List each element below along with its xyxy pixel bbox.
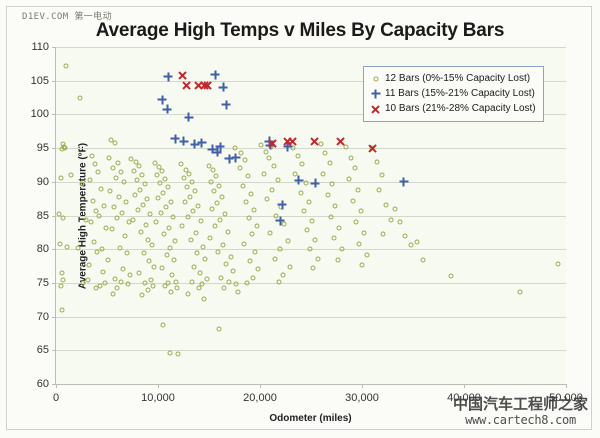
data-point-series-0	[355, 187, 360, 192]
data-point-series-0	[123, 233, 128, 238]
data-point-series-0	[89, 154, 94, 159]
data-point-series-0	[281, 272, 286, 277]
data-point-series-0	[145, 287, 150, 292]
data-point-series-0	[101, 204, 106, 209]
data-point-series-0	[212, 189, 217, 194]
data-point-series-0	[402, 233, 407, 238]
data-point-series-0	[319, 142, 324, 147]
data-point-series-1	[171, 134, 180, 143]
data-point-series-0	[164, 205, 169, 210]
data-point-series-0	[145, 237, 150, 242]
gridline-y	[56, 350, 566, 351]
data-point-series-0	[137, 187, 142, 192]
data-point-series-0	[117, 194, 122, 199]
data-point-series-0	[229, 255, 234, 260]
data-point-series-0	[377, 187, 382, 192]
data-point-series-0	[224, 262, 229, 267]
data-point-series-0	[180, 224, 185, 229]
y-tick-mark	[52, 317, 56, 318]
data-point-series-0	[92, 162, 97, 167]
y-tick-label: 90	[37, 176, 49, 188]
data-point-series-0	[60, 271, 65, 276]
data-point-series-0	[110, 226, 115, 231]
data-point-series-0	[139, 173, 144, 178]
data-point-series-0	[448, 274, 453, 279]
data-point-series-0	[248, 191, 253, 196]
chart-title: Average High Temps v Miles By Capacity B…	[0, 20, 600, 42]
data-point-series-0	[162, 232, 167, 237]
data-point-series-0	[136, 163, 141, 168]
legend-label: 10 Bars (21%-28% Capacity Lost)	[385, 103, 536, 114]
data-point-series-1	[283, 142, 292, 151]
data-point-series-0	[127, 220, 132, 225]
data-point-series-0	[298, 190, 303, 195]
legend-item-0[interactable]: 12 Bars (0%-15% Capacity Lost)	[369, 71, 536, 86]
legend-marker-circle-icon	[369, 72, 382, 85]
y-tick-label: 105	[31, 75, 49, 87]
data-point-series-0	[187, 194, 192, 199]
data-point-series-0	[135, 208, 140, 213]
data-point-series-0	[295, 154, 300, 159]
data-point-series-1	[265, 137, 274, 146]
data-point-series-1	[222, 100, 231, 109]
data-point-series-1	[219, 83, 228, 92]
legend-item-2[interactable]: 10 Bars (21%-28% Capacity Lost)	[369, 101, 536, 116]
data-point-series-1	[311, 179, 320, 188]
data-point-series-0	[241, 241, 246, 246]
data-point-series-0	[332, 236, 337, 241]
data-point-series-0	[124, 200, 129, 205]
data-point-series-0	[282, 221, 287, 226]
data-point-series-0	[98, 186, 103, 191]
data-point-series-0	[160, 169, 165, 174]
data-point-series-1	[211, 70, 220, 79]
data-point-series-0	[188, 237, 193, 242]
data-point-series-0	[112, 205, 117, 210]
data-point-series-0	[360, 263, 365, 268]
data-point-series-0	[213, 224, 218, 229]
data-point-series-0	[91, 240, 96, 245]
data-point-series-0	[518, 290, 523, 295]
data-point-series-0	[321, 171, 326, 176]
data-point-series-1	[294, 176, 303, 185]
data-point-series-0	[119, 170, 124, 175]
data-point-series-0	[214, 174, 219, 179]
data-point-series-0	[193, 231, 198, 236]
x-tick-mark	[362, 384, 363, 388]
data-point-series-0	[156, 195, 161, 200]
data-point-series-0	[353, 220, 358, 225]
gridline-y	[56, 216, 566, 217]
data-point-series-0	[183, 167, 188, 172]
x-tick-label: 30,000	[345, 392, 379, 404]
data-point-series-0	[166, 185, 171, 190]
data-point-series-0	[301, 209, 306, 214]
data-point-series-0	[408, 243, 413, 248]
data-point-series-0	[78, 95, 83, 100]
x-tick-mark	[566, 384, 567, 388]
data-point-series-0	[169, 200, 174, 205]
data-point-series-0	[237, 166, 242, 171]
data-point-series-0	[415, 240, 420, 245]
data-point-series-0	[116, 160, 121, 165]
data-point-series-0	[172, 257, 177, 262]
data-point-series-0	[197, 271, 202, 276]
data-point-series-0	[195, 204, 200, 209]
data-point-series-0	[132, 193, 137, 198]
data-point-series-1	[163, 105, 172, 114]
data-point-series-0	[328, 160, 333, 165]
data-point-series-0	[129, 156, 134, 161]
y-tick-mark	[52, 47, 56, 48]
data-point-series-2	[283, 137, 292, 146]
data-point-series-0	[190, 209, 195, 214]
data-point-series-0	[128, 272, 133, 277]
data-point-series-0	[161, 322, 166, 327]
data-point-series-0	[114, 175, 119, 180]
y-tick-mark	[52, 81, 56, 82]
data-point-series-0	[250, 275, 255, 280]
data-point-series-0	[555, 262, 560, 267]
data-point-series-0	[160, 266, 165, 271]
data-point-series-0	[336, 225, 341, 230]
data-point-series-0	[273, 256, 278, 261]
data-point-series-0	[380, 173, 385, 178]
data-point-series-0	[130, 217, 135, 222]
y-tick-label: 80	[37, 243, 49, 255]
data-point-series-0	[381, 232, 386, 237]
data-point-series-0	[235, 290, 240, 295]
data-point-series-0	[217, 326, 222, 331]
legend-marker-cross-icon	[369, 102, 382, 115]
data-point-series-0	[251, 208, 256, 213]
y-tick-label: 110	[31, 41, 49, 53]
data-point-series-0	[100, 270, 105, 275]
data-point-series-0	[106, 257, 111, 262]
data-point-series-0	[170, 272, 175, 277]
data-point-series-0	[64, 63, 69, 68]
chart-root: D1EV.COM 第一电动 Average High Temps v Miles…	[0, 0, 600, 438]
data-point-series-0	[219, 275, 224, 280]
legend-label: 11 Bars (15%-21% Capacity Lost)	[385, 88, 535, 99]
data-point-series-0	[245, 174, 250, 179]
data-point-series-0	[356, 241, 361, 246]
data-point-series-0	[131, 169, 136, 174]
data-point-series-0	[299, 162, 304, 167]
x-tick-label: 10,000	[141, 392, 175, 404]
legend-label: 12 Bars (0%-15% Capacity Lost)	[385, 73, 530, 84]
data-point-series-0	[287, 264, 292, 269]
data-point-series-1	[225, 154, 234, 163]
data-point-series-0	[93, 209, 98, 214]
data-point-series-0	[362, 231, 367, 236]
data-point-series-0	[270, 187, 275, 192]
data-point-series-0	[167, 225, 172, 230]
data-point-series-0	[138, 229, 143, 234]
data-point-series-0	[254, 224, 259, 229]
data-point-series-0	[196, 286, 201, 291]
data-point-series-1	[179, 137, 188, 146]
y-tick-mark	[52, 216, 56, 217]
data-point-series-0	[103, 225, 108, 230]
data-point-series-0	[191, 264, 196, 269]
data-point-series-0	[161, 190, 166, 195]
data-point-series-0	[88, 220, 93, 225]
gridline-y	[56, 182, 566, 183]
data-point-series-0	[109, 138, 114, 143]
data-point-series-2	[268, 138, 277, 147]
data-point-series-0	[58, 241, 63, 246]
data-point-series-0	[144, 197, 149, 202]
data-point-series-0	[350, 198, 355, 203]
data-point-series-0	[113, 140, 118, 145]
data-point-series-0	[125, 251, 130, 256]
data-point-series-0	[267, 155, 272, 160]
y-tick-label: 70	[37, 311, 49, 323]
data-point-series-0	[326, 193, 331, 198]
data-point-series-0	[165, 252, 170, 257]
y-tick-label: 75	[37, 277, 49, 289]
y-tick-mark	[52, 148, 56, 149]
data-point-series-1	[216, 142, 225, 151]
data-point-series-0	[182, 200, 187, 205]
y-tick-label: 100	[31, 108, 49, 120]
data-point-series-0	[335, 257, 340, 262]
gridline-y	[56, 148, 566, 149]
data-point-series-0	[95, 170, 100, 175]
data-point-series-0	[268, 231, 273, 236]
data-point-series-0	[255, 267, 260, 272]
data-point-series-0	[157, 164, 162, 169]
data-point-series-0	[279, 205, 284, 210]
y-tick-label: 85	[37, 210, 49, 222]
y-tick-mark	[52, 182, 56, 183]
data-point-series-0	[384, 202, 389, 207]
data-point-series-2	[178, 71, 187, 80]
data-point-series-0	[93, 286, 98, 291]
data-point-series-0	[60, 307, 65, 312]
y-tick-mark	[52, 114, 56, 115]
data-point-series-1	[158, 95, 167, 104]
data-point-series-1	[276, 216, 285, 225]
data-point-series-1	[197, 138, 206, 147]
data-point-series-0	[198, 218, 203, 223]
data-point-series-0	[154, 173, 159, 178]
data-point-series-0	[151, 264, 156, 269]
data-point-series-0	[220, 194, 225, 199]
data-point-series-0	[285, 239, 290, 244]
data-point-series-0	[397, 220, 402, 225]
data-point-series-2	[288, 137, 297, 146]
gridline-y	[56, 47, 566, 48]
data-point-series-0	[169, 290, 174, 295]
data-point-series-0	[249, 232, 254, 237]
data-point-series-0	[323, 151, 328, 156]
data-point-series-0	[304, 228, 309, 233]
data-point-series-2	[203, 81, 212, 90]
data-point-series-0	[185, 291, 190, 296]
data-point-series-0	[333, 204, 338, 209]
x-tick-label: 20,000	[243, 392, 277, 404]
data-point-series-0	[311, 266, 316, 271]
data-point-series-0	[184, 185, 189, 190]
data-point-series-0	[247, 259, 252, 264]
data-point-series-0	[192, 189, 197, 194]
data-point-series-0	[140, 202, 145, 207]
data-point-series-0	[264, 150, 269, 155]
gridline-y	[56, 249, 566, 250]
data-point-series-0	[421, 257, 426, 262]
x-tick-label: 0	[53, 392, 59, 404]
data-point-series-0	[152, 160, 157, 165]
data-point-series-0	[149, 243, 154, 248]
data-point-series-0	[217, 183, 222, 188]
data-point-series-0	[113, 276, 118, 281]
data-point-series-0	[306, 200, 311, 205]
data-point-series-0	[61, 142, 66, 147]
y-tick-mark	[52, 283, 56, 284]
data-point-series-0	[215, 201, 220, 206]
legend-item-1[interactable]: 11 Bars (15%-21% Capacity Lost)	[369, 86, 536, 101]
legend-marker-plus-icon	[369, 87, 382, 100]
gridline-y	[56, 283, 566, 284]
data-point-series-0	[181, 175, 186, 180]
data-point-series-0	[392, 206, 397, 211]
data-point-series-0	[111, 166, 116, 171]
y-tick-label: 95	[37, 142, 49, 154]
data-point-series-1	[208, 145, 217, 154]
data-point-series-0	[141, 251, 146, 256]
gridline-y	[56, 317, 566, 318]
data-point-series-0	[262, 171, 267, 176]
data-point-series-0	[348, 155, 353, 160]
data-point-series-0	[175, 286, 180, 291]
x-tick-mark	[158, 384, 159, 388]
data-point-series-0	[243, 200, 248, 205]
data-point-series-2	[336, 137, 345, 146]
data-point-series-0	[176, 352, 181, 357]
data-point-series-0	[207, 163, 212, 168]
data-point-series-0	[365, 252, 370, 257]
data-point-series-0	[375, 159, 380, 164]
data-point-series-0	[173, 239, 178, 244]
data-point-series-0	[136, 271, 141, 276]
data-point-series-0	[179, 162, 184, 167]
data-point-series-0	[107, 155, 112, 160]
data-point-series-0	[69, 173, 74, 178]
data-point-series-0	[211, 167, 216, 172]
data-point-series-0	[133, 159, 138, 164]
x-tick-mark	[464, 384, 465, 388]
data-point-series-0	[316, 256, 321, 261]
data-point-series-0	[388, 217, 393, 222]
data-point-series-0	[210, 206, 215, 211]
data-point-series-0	[313, 237, 318, 242]
data-point-series-0	[242, 158, 247, 163]
x-tick-mark	[56, 384, 57, 388]
data-point-series-0	[272, 163, 277, 168]
data-point-series-0	[208, 236, 213, 241]
data-point-series-0	[292, 171, 297, 176]
data-point-series-0	[90, 198, 95, 203]
watermark-bottom-right: 中国汽车工程师之家 www.cartech8.com	[453, 396, 588, 428]
data-point-series-0	[121, 267, 126, 272]
data-point-series-0	[153, 220, 158, 225]
x-tick-mark	[260, 384, 261, 388]
data-point-series-0	[201, 297, 206, 302]
data-point-series-0	[221, 243, 226, 248]
data-point-series-0	[310, 218, 315, 223]
y-tick-label: 65	[37, 344, 49, 356]
data-point-series-0	[218, 217, 223, 222]
data-point-series-1	[278, 200, 287, 209]
data-point-series-1	[231, 153, 240, 162]
data-point-series-0	[59, 175, 64, 180]
data-point-series-0	[146, 259, 151, 264]
data-point-series-0	[231, 268, 236, 273]
data-point-series-0	[265, 197, 270, 202]
data-point-series-0	[108, 189, 113, 194]
data-point-series-0	[202, 256, 207, 261]
data-point-series-0	[204, 276, 209, 281]
data-point-series-0	[115, 286, 120, 291]
watermark-url-text: www.cartech8.com	[453, 413, 588, 428]
data-point-series-2	[311, 137, 320, 146]
data-point-series-0	[143, 222, 148, 227]
data-point-series-0	[226, 229, 231, 234]
data-point-series-0	[186, 171, 191, 176]
data-point-series-0	[358, 209, 363, 214]
data-point-series-0	[222, 286, 227, 291]
data-point-series-0	[194, 251, 199, 256]
watermark-cn-text: 中国汽车工程师之家	[453, 396, 588, 413]
data-point-series-0	[238, 151, 243, 156]
chart-legend: 12 Bars (0%-15% Capacity Lost)11 Bars (1…	[363, 66, 544, 122]
data-point-series-0	[139, 293, 144, 298]
y-tick-mark	[52, 249, 56, 250]
y-tick-label: 60	[37, 378, 49, 390]
data-point-series-0	[240, 183, 245, 188]
data-point-series-0	[111, 291, 116, 296]
y-tick-mark	[52, 350, 56, 351]
data-point-series-0	[352, 166, 357, 171]
